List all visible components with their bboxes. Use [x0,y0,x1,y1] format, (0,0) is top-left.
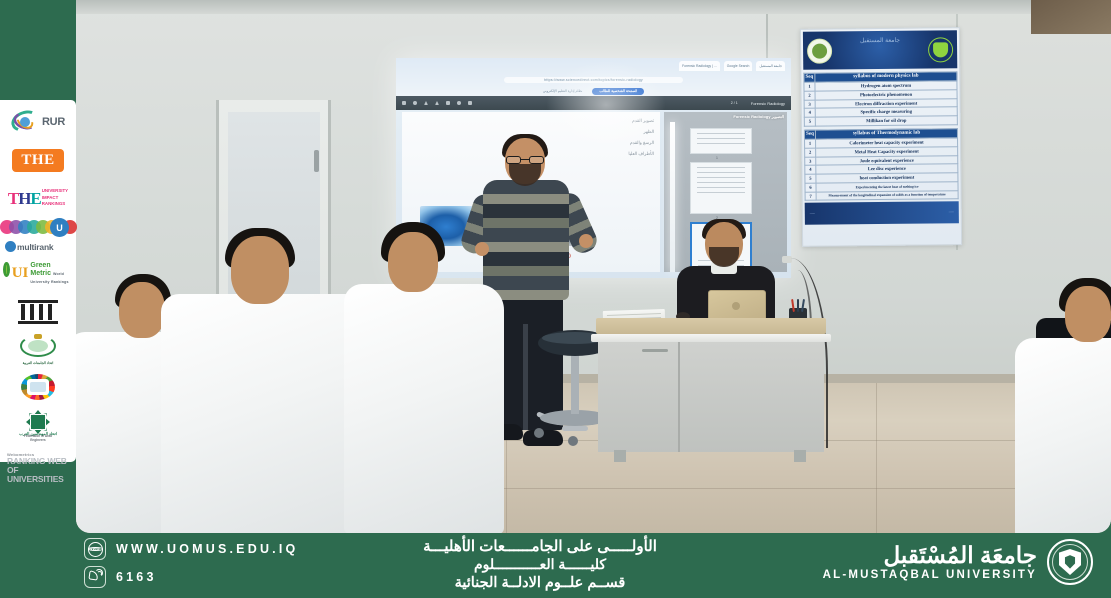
pointer-icon[interactable] [435,101,439,105]
highlight-icon[interactable] [446,101,450,105]
presenter-right-hand [579,234,593,248]
rur-logo: RUR [3,104,73,140]
floor-tile-line [876,383,877,533]
student-head [388,232,438,292]
row-seq: 3 [804,100,815,109]
row-seq: 2 [804,91,815,100]
browser-address-bar[interactable]: https://www.sciencedirect.com/topics/for… [396,74,791,85]
white-lab-coat [161,294,371,533]
row-seq: 6 [805,183,816,192]
department-slogan: الأولـــــى على الجامــــــعات الأهليـــ… [330,537,750,593]
slogan-line-1: الأولـــــى على الجامــــــعات الأهليـــ… [330,537,750,556]
sdg-wheel-icon [16,373,60,403]
event-photograph: Forensic Radiology | ... Google Search ج… [76,0,1111,533]
student-head [1065,286,1111,342]
website-row[interactable]: www WWW.UOMUS.EDU.IQ [84,538,298,560]
university-name-english: AL-MUSTAQBAL UNIVERSITY [823,569,1037,581]
website-url: WWW.UOMUS.EDU.IQ [116,542,298,556]
webometrics-line2: OF UNIVERSITIES [7,466,73,484]
student-portal-button[interactable]: الصفحة الشخصية للطالب [592,88,644,95]
ceiling-strip [76,0,1111,14]
student-seated-2 [171,228,356,533]
presenter-striped-sweater [483,180,569,300]
phone-row[interactable]: 6163 [84,566,298,588]
row-seq: 5 [805,174,816,183]
bookmark-note: نظام إدارة التعليم الإلكتروني [543,89,583,93]
greenmetric-line2: Metric [30,270,51,277]
row-seq: 4 [805,166,816,175]
phone-number: 6163 [116,570,157,584]
white-lab-coat [1015,338,1111,533]
the-impact-logo-label: THE [8,190,41,207]
cursor-icon[interactable] [424,101,428,105]
university-brand-block: جامعَة المُسْتَقبل AL-MUSTAQBAL UNIVERSI… [823,539,1093,585]
ceiling-wood-corner [1031,0,1111,34]
browser-tab[interactable]: Forensic Radiology | ... [679,61,720,71]
row-seq: 1 [804,82,815,91]
poster-header: جامعة المستقبل [803,30,957,70]
multirank-label: multirank [17,242,53,252]
webometrics-logo: Webometrics RANKING WEB OF UNIVERSITIES [3,446,73,482]
poster-footer: —— [805,202,959,226]
pdf-page-thumbnail[interactable] [690,128,752,154]
table-row: 7Measurement of the longitudinal expansi… [805,190,958,200]
seq-header: Seq [804,130,815,139]
the-logo-label: THE [12,149,63,172]
u-multirank-logo: U multirank [3,218,73,254]
phone-call-icon [84,566,106,588]
row-seq: 7 [805,192,816,201]
white-lab-coat [344,284,504,533]
university-name-arabic: جامعَة المُسْتَقبل [823,543,1037,567]
mustaqbal-shield-logo [1047,539,1093,585]
greenmetric-line1: Green [30,262,50,269]
ink-icon[interactable] [457,101,461,105]
arab-engineers-label-en: Federation of Arab Engineers [16,434,60,442]
slogan-line-3: قســم علــوم الادلــة الجنائية [330,574,750,593]
college-shield-icon [928,37,953,62]
rur-logo-label: RUR [42,116,65,128]
classical-building-logo [3,294,73,330]
accreditation-logos-panel: RUR THE THE UNIVERSITY IMPACT RANKINGS U… [0,100,76,462]
ui-greenmetric-logo: UI Green Metric World University Ranking… [3,256,73,292]
pdf-page-indicator: 2 / 1 [731,101,738,105]
contact-block: www WWW.UOMUS.EDU.IQ 6163 [84,538,298,588]
slogan-line-2: كليــــــة العـــــــــــلوم [330,556,750,574]
table-row: 5Millikan for oil drop [804,116,957,126]
pdf-thumb-page-number: 1 [716,156,718,160]
classical-building-icon [18,300,58,324]
poster-frame: RUR THE THE UNIVERSITY IMPACT RANKINGS U… [0,0,1111,598]
the-impact-line1: UNIVERSITY [42,188,68,194]
greenmetric-ui-label: UI [12,266,29,281]
page-fit-icon[interactable] [468,101,472,105]
pdf-viewer-toolbar: 2 / 1 Forensic Radiology [396,96,791,110]
student-seated-4 [1011,280,1111,533]
row-seq: 3 [805,157,816,166]
the-impact-rankings-logo: THE UNIVERSITY IMPACT RANKINGS [3,180,73,216]
multirank-mark: U [50,218,69,237]
university-seal-icon [807,38,832,63]
pdf-line: تصوير القدم [512,118,654,124]
menu-icon[interactable] [402,101,406,105]
row-text: Millikan for oil drop [815,116,957,126]
green-footer-bar: www WWW.UOMUS.EDU.IQ 6163 الأولـــــى عل… [0,533,1111,598]
pdf-sidebar-title: Forensic Radiology التصوير [733,114,784,119]
row-seq: 5 [804,117,815,126]
association-of-arab-universities-logo: اتحاد الجامعات العربية [3,332,73,368]
greenmetric-globe-icon [3,262,10,277]
pdf-page-thumbnail[interactable] [690,162,752,214]
row-seq: 1 [805,139,816,148]
row-seq: 2 [805,148,816,157]
lab-syllabus-poster: جامعة المستقبل Seq syllabus of modern ph… [800,27,962,247]
row-seq: 4 [804,109,815,118]
thermodynamic-lab-table: Seq syllabus of Thermodynamic lab 1Calor… [804,128,959,201]
the-impact-line3: RANKINGS [42,201,68,207]
presentation-desk [596,318,826,464]
browser-bookmarks-bar: نظام إدارة التعليم الإلكتروني الصفحة الش… [396,86,791,96]
federation-of-arab-engineers-logo: اتحاد المهندسين العرب Federation of Arab… [3,408,73,444]
arab-universities-label: اتحاد الجامعات العربية [16,361,60,365]
the-logo: THE [3,142,73,178]
door-handle [314,150,319,172]
globe-www-icon: www [84,538,106,560]
browser-url-text: https://www.sciencedirect.com/topics/for… [504,77,683,83]
browser-tab-bar: Forensic Radiology | ... Google Search ج… [396,60,791,72]
seq-header: Seq [804,73,815,82]
laptop-logo-icon [732,302,740,310]
student-seated-3 [348,222,493,533]
sdg-wheel-logo [3,370,73,406]
row-text: Measurement of the longitudinal expansio… [816,190,958,200]
browser-tab[interactable]: جامعة المستقبل [756,61,785,71]
modern-physics-lab-table: Seq syllabus of modern physics lab 1Hydr… [803,71,958,127]
record-icon[interactable] [413,101,417,105]
browser-tab[interactable]: Google Search [724,61,753,71]
eyeglasses-icon [505,156,545,164]
pdf-doc-title: Forensic Radiology [751,101,785,106]
browser-chrome: Forensic Radiology | ... Google Search ج… [396,58,791,96]
student-head [119,282,165,338]
student-head [231,236,289,304]
